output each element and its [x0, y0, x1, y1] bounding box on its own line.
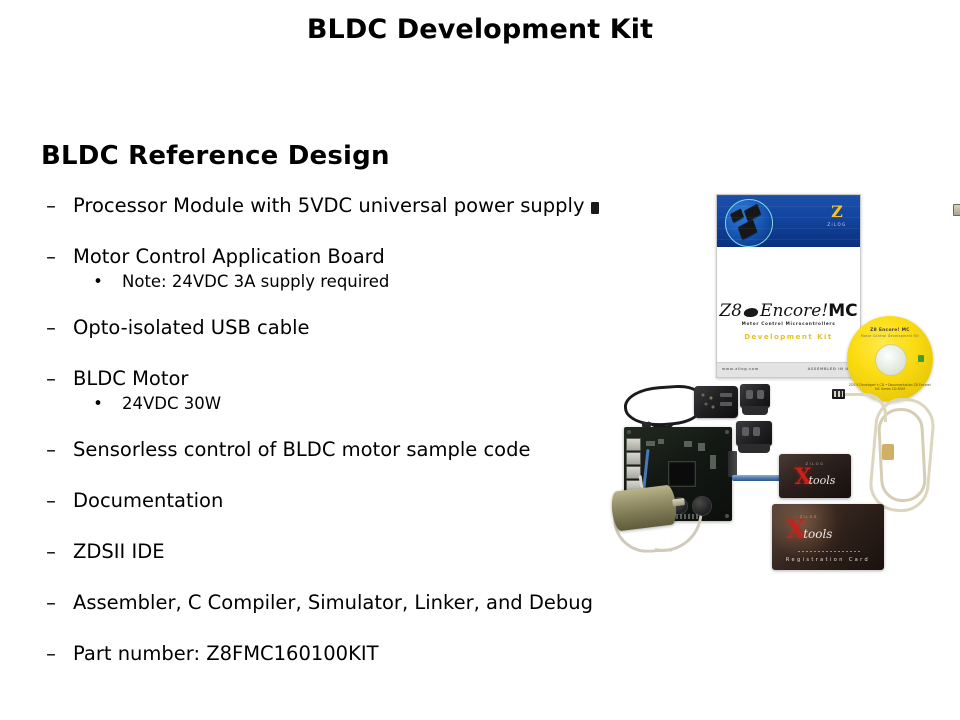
xtools-logo-tools: tools — [809, 474, 836, 487]
product-box-footer: www.zilog.com ASSEMBLED IN USA — [717, 362, 860, 377]
product-box-footer-url: www.zilog.com — [722, 367, 759, 371]
sub-list-item-label: 24VDC 30W — [122, 394, 221, 413]
list-item: – Motor Control Application Board — [41, 243, 681, 270]
product-box-body: Z8Encore!MC Motor Control Microcontrolle… — [717, 248, 860, 363]
sub-list-item-label: Note: 24VDC 3A supply required — [122, 272, 389, 291]
development-kit-photo: Z ZiLOG Z8Encore!MC Motor Control Microc… — [596, 186, 960, 568]
dash-bullet-icon: – — [45, 436, 57, 463]
brand-z8: Z8 — [719, 301, 742, 321]
plug-adapter — [736, 421, 772, 446]
list-spacer — [41, 219, 681, 243]
xtools-usb-port — [953, 204, 960, 216]
list-item: – Sensorless control of BLDC motor sampl… — [41, 436, 681, 463]
dash-bullet-icon: – — [45, 487, 57, 514]
usb-connector-icon — [832, 389, 845, 399]
mounting-hole-icon — [725, 430, 729, 434]
bldc-motor — [610, 484, 678, 532]
chip-icon — [738, 219, 758, 239]
list-item: – ZDSII IDE — [41, 538, 681, 565]
plug-adapter-base — [742, 406, 768, 415]
power-supply-brick — [694, 386, 738, 418]
xtools-left-port — [591, 202, 599, 214]
dash-bullet-icon: – — [45, 243, 57, 270]
brand-mc: MC — [828, 301, 857, 321]
smd-component — [698, 443, 705, 451]
cd-bottom-label: ZDS II Developer’s CD • Documentation Z8… — [847, 383, 933, 391]
list-item-label: Sensorless control of BLDC motor sample … — [73, 438, 530, 461]
list-item: – Opto-isolated USB cable — [41, 314, 681, 341]
chip-icon — [744, 204, 761, 221]
list-item: – Assembler, C Compiler, Simulator, Link… — [41, 589, 681, 616]
dash-bullet-icon: – — [45, 314, 57, 341]
plug-adapter — [740, 384, 770, 408]
development-kit-label: Development Kit — [717, 333, 860, 341]
list-spacer — [41, 294, 681, 314]
zilog-logo-wordmark: ZiLOG — [823, 222, 851, 227]
product-box-header: Z ZiLOG — [717, 195, 860, 248]
dot-bullet-icon: • — [93, 270, 103, 294]
smd-component — [684, 441, 692, 447]
swoosh-icon — [743, 308, 759, 317]
dash-bullet-icon: – — [45, 589, 57, 616]
software-cd: Z8 Encore! MC Motor Control Development … — [847, 316, 933, 402]
list-item-label: BLDC Motor — [73, 367, 188, 390]
power-prong-icon — [720, 402, 732, 406]
feature-bullet-list: – Processor Module with 5VDC universal p… — [41, 192, 681, 667]
zilog-logo: Z ZiLOG — [823, 204, 851, 227]
xtools-logo: ZiLOGXtools — [779, 463, 851, 487]
microcontroller-chip — [668, 461, 696, 487]
chip-icon — [730, 208, 744, 222]
list-item: – Documentation — [41, 487, 681, 514]
registration-card: ZiLOGXtools Registration Card — [772, 504, 884, 570]
plug-slot-icon — [753, 427, 760, 436]
dash-bullet-icon: – — [45, 538, 57, 565]
list-item-label: Opto-isolated USB cable — [73, 316, 310, 339]
chip-photo-icon — [725, 199, 773, 247]
power-prong-icon — [720, 393, 732, 397]
plug-slot-icon — [742, 427, 749, 436]
list-item-label: Motor Control Application Board — [73, 245, 385, 268]
list-item-label: Assembler, C Compiler, Simulator, Linker… — [73, 591, 593, 614]
xtools-logo: ZiLOGXtools — [786, 516, 832, 541]
list-spacer — [41, 565, 681, 589]
cd-title: Z8 Encore! MC — [870, 328, 910, 333]
list-spacer — [41, 616, 681, 640]
sub-list-item: • Note: 24VDC 3A supply required — [41, 270, 681, 294]
registration-card-caption: Registration Card — [772, 557, 884, 563]
brand-encore: Encore! — [760, 301, 828, 321]
list-spacer — [41, 341, 681, 365]
smd-component — [646, 441, 655, 446]
list-item: – BLDC Motor — [41, 365, 681, 392]
board-connector — [728, 451, 737, 477]
plug-adapter-base — [738, 444, 770, 453]
dash-bullet-icon: – — [45, 640, 57, 667]
screw-terminal — [626, 438, 641, 451]
dash-bullet-icon: – — [45, 365, 57, 392]
xtools-logo-zilog: ZiLOG — [779, 463, 851, 467]
dash-bullet-icon: – — [45, 192, 57, 219]
list-item-label: Processor Module with 5VDC universal pow… — [73, 194, 585, 217]
plug-slot-icon — [746, 390, 753, 399]
screw-terminal — [626, 452, 641, 465]
xtools-debug-interface: ZiLOGXtools — [779, 454, 851, 498]
encore-brand-line: Z8Encore!MC — [717, 302, 860, 320]
cd-subtitle: Motor Control Development Kit — [847, 334, 933, 338]
list-spacer — [41, 463, 681, 487]
list-item: – Processor Module with 5VDC universal p… — [41, 192, 681, 219]
debug-link-cable — [732, 475, 782, 481]
smd-component — [658, 439, 664, 444]
product-box: Z ZiLOG Z8Encore!MC Motor Control Microc… — [716, 194, 861, 378]
sub-list-item: • 24VDC 30W — [41, 392, 681, 416]
list-spacer — [41, 416, 681, 436]
page-title: BLDC Development Kit — [0, 14, 960, 45]
mounting-hole-icon — [725, 514, 729, 518]
list-item: – Part number: Z8FMC160100KIT — [41, 640, 681, 667]
section-heading: BLDC Reference Design — [41, 141, 390, 171]
xtools-logo-tools: tools — [803, 527, 832, 541]
mounting-hole-icon — [627, 430, 631, 434]
smd-component — [710, 455, 716, 469]
list-item-label: Part number: Z8FMC160100KIT — [73, 642, 379, 665]
list-item-label: ZDSII IDE — [73, 540, 165, 563]
cd-top-label: Z8 Encore! MC Motor Control Development … — [847, 328, 933, 338]
cd-green-mark-icon — [918, 355, 924, 362]
plug-slot-icon — [757, 390, 764, 399]
list-spacer — [41, 514, 681, 538]
encore-brand-lockup: Z8Encore!MC Motor Control Microcontrolle… — [717, 302, 860, 341]
zilog-logo-letter: Z — [823, 204, 851, 220]
dot-bullet-icon: • — [93, 392, 103, 416]
power-supply-detail — [700, 392, 716, 410]
encore-brand-subtitle: Motor Control Microcontrollers — [717, 321, 860, 326]
list-item-label: Documentation — [73, 489, 223, 512]
usb-cable-tie — [882, 444, 894, 460]
electrolytic-capacitor — [692, 496, 712, 516]
registration-card-rule — [798, 551, 862, 552]
